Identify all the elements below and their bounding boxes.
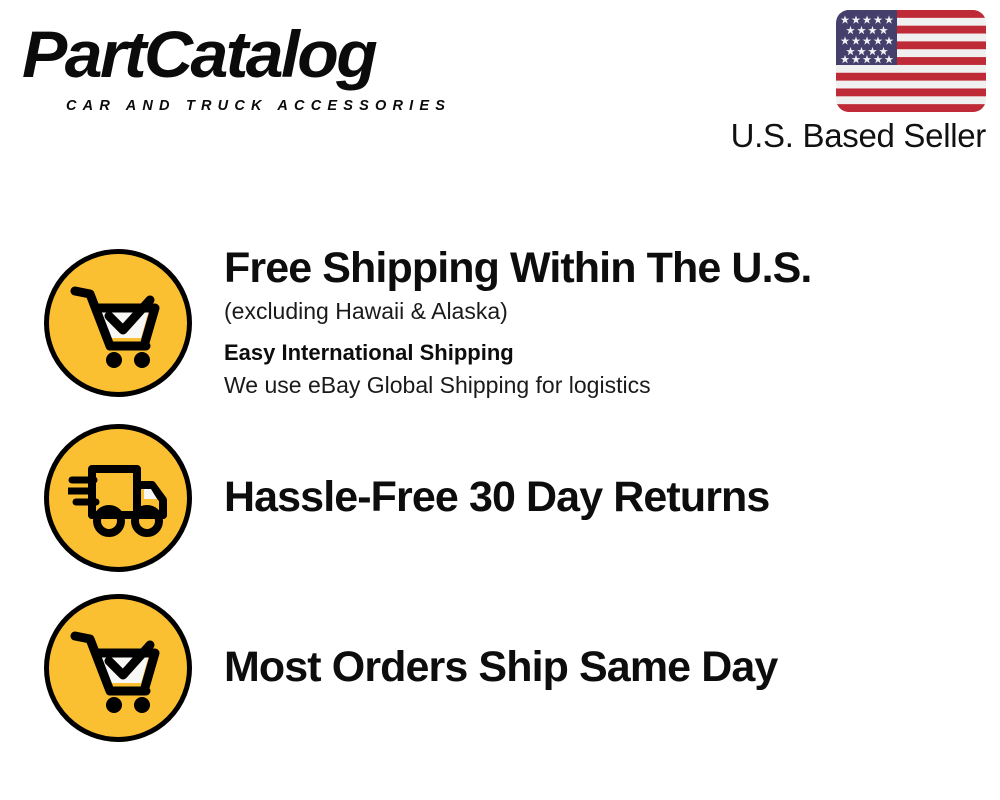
brand-wordmark: PartCatalog (22, 16, 375, 92)
shopping-cart-check-icon-badge (44, 249, 192, 397)
feature-heading: Free Shipping Within The U.S. (224, 245, 1000, 291)
delivery-truck-icon-badge (44, 424, 192, 572)
feature-row: Free Shipping Within The U.S. (excluding… (0, 240, 1000, 405)
us-flag-icon (836, 10, 986, 112)
brand-logo[interactable]: PartCatalog CAR AND TRUCK ACCESSORIES (22, 22, 492, 112)
brand-tagline: CAR AND TRUCK ACCESSORIES (66, 98, 451, 114)
feature-subtext: (excluding Hawaii & Alaska) (224, 297, 1000, 327)
us-based-seller-block: U.S. Based Seller (716, 10, 986, 155)
feature-heading: Most Orders Ship Same Day (224, 644, 1000, 690)
feature-row: Most Orders Ship Same Day (0, 585, 1000, 750)
us-based-seller-label: U.S. Based Seller (716, 117, 986, 155)
shopping-cart-check-icon (70, 623, 166, 713)
feature-text: Hassle-Free 30 Day Returns (224, 474, 1000, 520)
shopping-cart-check-icon-badge (44, 594, 192, 742)
feature-text: Free Shipping Within The U.S. (excluding… (224, 245, 1000, 401)
shopping-cart-check-icon (70, 278, 166, 368)
feature-row: Hassle-Free 30 Day Returns (0, 415, 1000, 580)
feature-subtext-strong: Easy International Shipping (224, 339, 1000, 368)
feature-text: Most Orders Ship Same Day (224, 644, 1000, 690)
feature-heading: Hassle-Free 30 Day Returns (224, 474, 1000, 520)
delivery-truck-icon (68, 458, 168, 538)
feature-subtext-plain: We use eBay Global Shipping for logistic… (224, 371, 1000, 401)
page-header: PartCatalog CAR AND TRUCK ACCESSORIES (0, 0, 1000, 175)
